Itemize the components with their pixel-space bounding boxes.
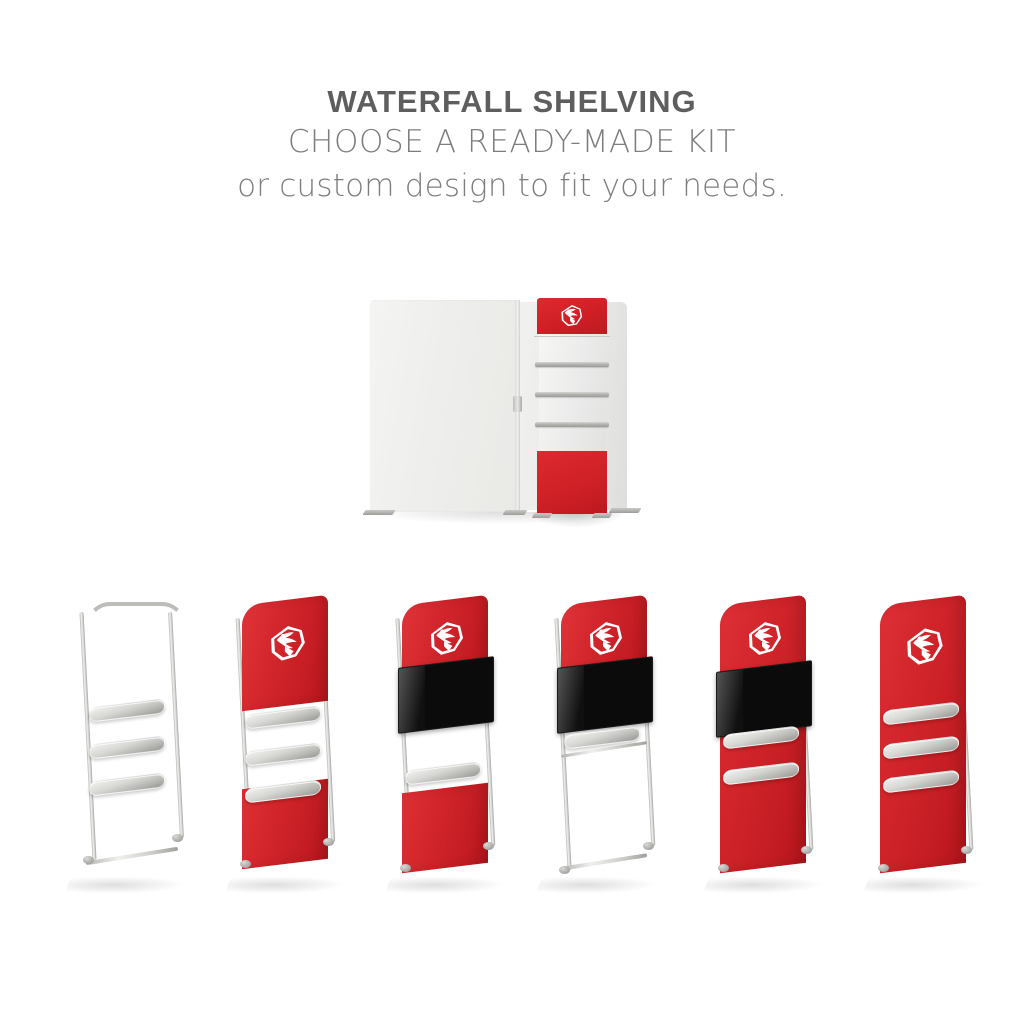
hero-shelf-1 [535,362,609,367]
variant-shadow [862,876,989,894]
foot-cap-right [801,846,812,854]
monitor-screen [716,660,812,738]
foot-cap-right [961,846,972,854]
foot-cap-left [718,864,729,872]
eagle-hexagon-logo [268,621,308,666]
foot-cap-right [483,842,494,850]
foot-cap-left [400,864,411,872]
hero-tower-foot-right [592,513,613,518]
frame-cross-bar-lower [561,853,647,871]
hero-shelving-tower [537,298,607,518]
page-root: WATERFALL SHELVING CHOOSE A READY-MADE K… [0,0,1024,1024]
eagle-hexagon-logo [428,617,466,660]
variant-shadow [535,876,662,894]
eagle-hexagon-logo [587,617,625,660]
hero-foot-left [362,510,395,515]
shelf-tray-2 [245,742,321,766]
hero-product-image [352,296,672,536]
heading-block: WATERFALL SHELVING CHOOSE A READY-MADE K… [0,84,1024,208]
hero-top-rail [534,336,610,337]
eagle-hexagon-logo [746,617,784,660]
hero-footer-graphic [537,451,607,514]
variant-header-3-shelf[interactable] [222,588,372,898]
hero-foot-right [609,508,642,513]
variant-monitor-shelf-open[interactable] [533,588,683,898]
hero-backwall-left [370,300,518,512]
variant-monitor-shelf-panel[interactable] [382,588,532,898]
shelf-tray-1 [89,698,165,722]
hero-wall-clip [513,396,522,412]
hero-foot-mid [503,510,528,515]
variant-bare-frame-3-shelf[interactable] [62,588,212,898]
shelf-tray-3 [89,772,165,796]
subtitle-line-2: or custom design to fit your needs. [0,164,1024,208]
foot-cap-right [643,842,654,850]
foot-cap-left [83,856,94,864]
page-title: WATERFALL SHELVING [0,84,1024,120]
monitor-screen [398,656,494,734]
foot-cap-left [240,860,251,868]
foot-cap-right [172,834,183,842]
eagle-hexagon-logo [558,303,586,329]
hero-header-graphic [537,298,607,334]
variant-shadow [384,876,511,894]
monitor-screen [557,656,653,734]
full-graphic-skin [880,595,966,874]
hero-section-divider [0,536,1024,537]
shelf-tray-1 [405,761,481,785]
frame-base-bar [86,847,178,866]
variant-row [0,588,1024,908]
hero-tower-foot-left [532,513,553,518]
frame-post-left [80,612,97,860]
eagle-hexagon-logo [904,623,946,670]
variant-full-graphic-3-shelf[interactable] [860,588,1010,898]
variant-full-graphic-monitor-2-shelf[interactable] [700,588,850,898]
hero-shelf-2 [535,392,609,397]
subtitle-line-1: CHOOSE A READY-MADE KIT [0,120,1024,164]
lower-graphic-panel [402,783,488,874]
foot-cap-right [323,838,334,846]
shelf-tray-2 [89,735,165,759]
header-graphic-sail [242,595,328,712]
foot-cap-left [559,866,570,874]
variant-shadow [64,876,191,894]
foot-cap-left [878,864,889,872]
variant-shadow [702,876,829,894]
frame-post-right [168,612,184,838]
variant-shadow [224,876,351,894]
hero-shelf-3 [535,422,609,427]
